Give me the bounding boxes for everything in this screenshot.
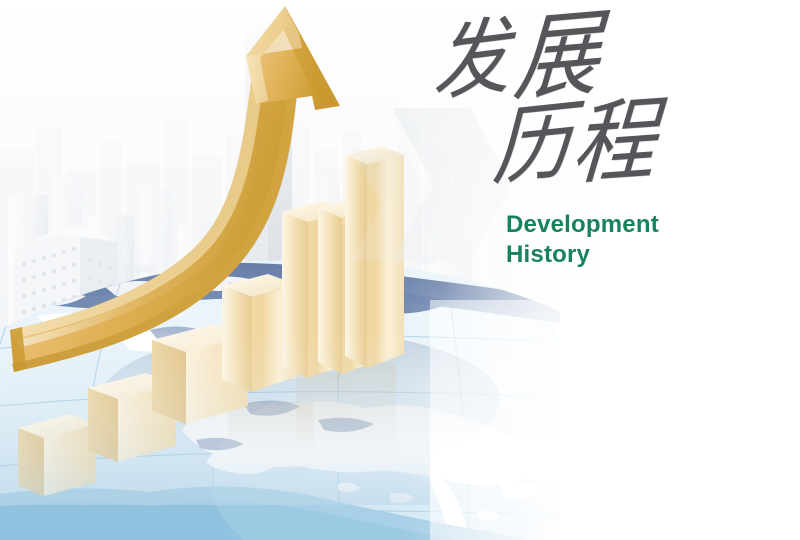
chinese-char-fa: 发 <box>432 15 507 108</box>
title-block: 发 展 历 程 Development History <box>430 18 780 288</box>
english-subtitle-line-2: History <box>506 240 766 270</box>
chinese-char-li: 历 <box>491 99 572 193</box>
chinese-char-zhan: 展 <box>511 6 601 107</box>
chinese-char-cheng: 程 <box>569 96 657 192</box>
development-history-banner: 发 展 历 程 Development History <box>0 0 800 540</box>
chinese-calligraphy-title: 发 展 历 程 <box>430 18 700 208</box>
english-subtitle-line-1: Development <box>506 210 766 240</box>
english-subtitle: Development History <box>506 210 766 270</box>
